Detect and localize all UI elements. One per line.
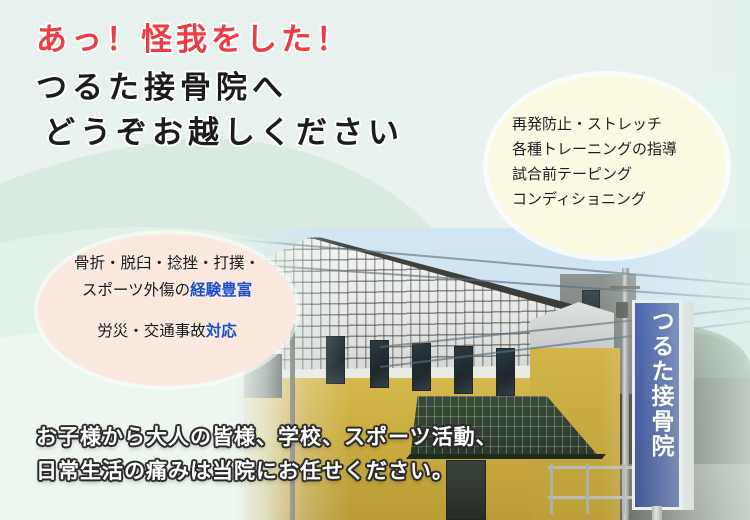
service-item-3: 試合前テーピング xyxy=(512,162,712,187)
tagline-line-2: 日常生活の痛みは当院にお任せください。 xyxy=(36,454,556,488)
service-item-4: コンディショニング xyxy=(512,187,712,212)
services-list: 再発防止・ストレッチ 各種トレーニングの指導 試合前テーピング コンディショニン… xyxy=(512,112,712,212)
tagline-block: お子様から大人の皆様、学校、スポーツ活動、 日常生活の痛みは当院にお任せください… xyxy=(36,420,556,488)
specialty-list: 骨折・脱臼・捻挫・打撲・ スポーツ外傷の経験豊富 労災・交通事故対応 xyxy=(42,250,292,345)
specialty-line-2-plain: スポーツ外傷の xyxy=(82,281,190,299)
specialty-line-2: スポーツ外傷の経験豊富 xyxy=(42,277,292,304)
service-item-2: 各種トレーニングの指導 xyxy=(512,137,712,162)
specialty-line-3-highlight: 対応 xyxy=(206,322,237,340)
service-item-1: 再発防止・ストレッチ xyxy=(512,112,712,137)
specialty-line-1: 骨折・脱臼・捻挫・打撲・ xyxy=(42,250,292,277)
headline-line-3: どうぞお越しください xyxy=(44,111,506,156)
specialty-line-2-highlight: 経験豊富 xyxy=(190,281,252,299)
specialty-line-3-plain: 労災・交通事故 xyxy=(97,322,206,340)
headline-block: あっ！怪我をした！ つるた接骨院へ どうぞお越しください xyxy=(36,20,506,156)
headline-line-2: つるた接骨院へ xyxy=(36,66,506,111)
tagline-line-1: お子様から大人の皆様、学校、スポーツ活動、 xyxy=(36,420,556,454)
specialty-line-3: 労災・交通事故対応 xyxy=(42,318,292,345)
clinic-banner: つるた接骨院 あっ！怪我をした！ つるた接骨院へ どうぞお越しください 再発防止… xyxy=(0,0,750,520)
headline-line-1: あっ！怪我をした！ xyxy=(36,20,506,60)
